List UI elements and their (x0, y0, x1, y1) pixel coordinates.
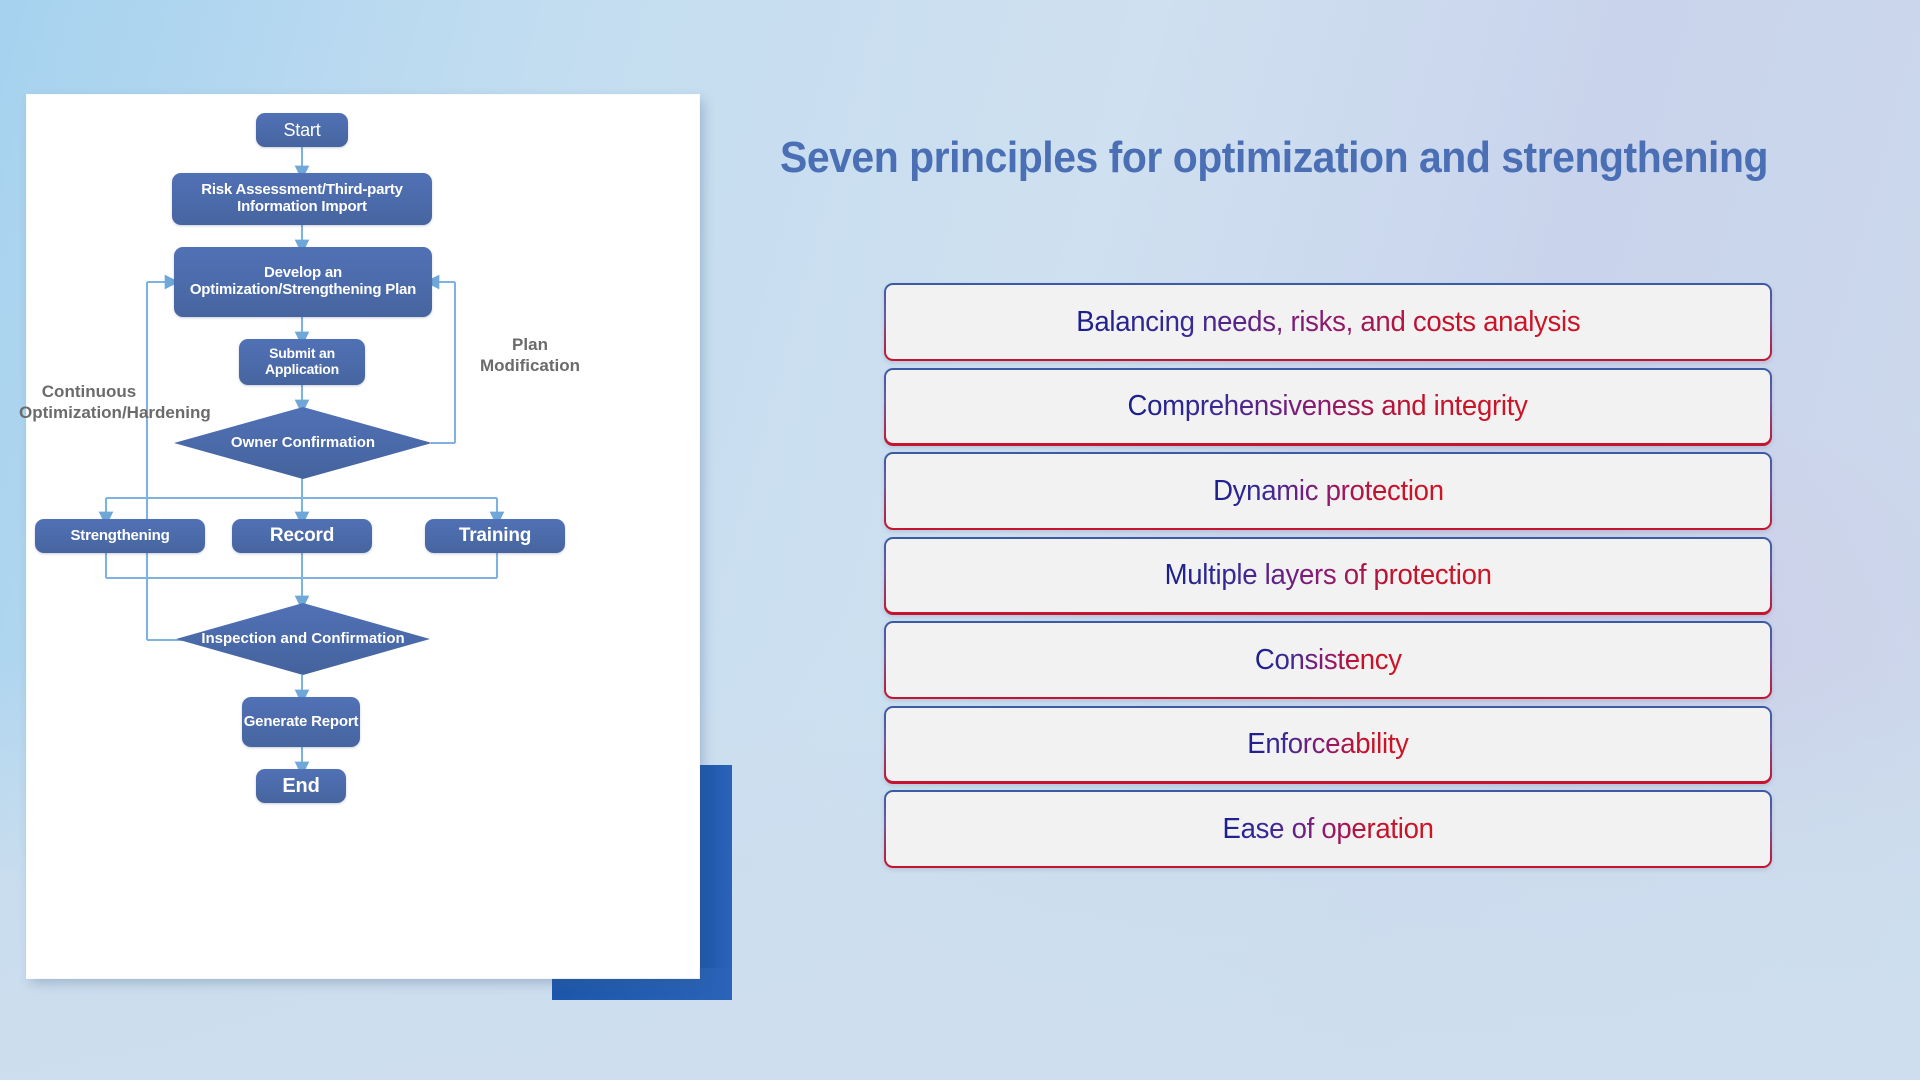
principle-item-6-inner: Enforceability (886, 708, 1770, 782)
principle-item-2-inner: Comprehensiveness and integrity (886, 370, 1770, 444)
flow-node-training-label: Training (459, 525, 531, 546)
flow-node-risk-assessment[interactable]: Risk Assessment/Third-party Information … (172, 173, 432, 225)
flow-node-start[interactable]: Start (256, 113, 348, 147)
principle-item-2[interactable]: Comprehensiveness and integrity (884, 368, 1772, 446)
principle-item-5[interactable]: Consistency (884, 621, 1772, 699)
flow-node-record[interactable]: Record (232, 519, 372, 553)
flow-node-training[interactable]: Training (425, 519, 565, 553)
principle-item-3[interactable]: Dynamic protection (884, 452, 1772, 530)
principle-item-7-label: Ease of operation (1222, 813, 1433, 846)
principle-item-3-inner: Dynamic protection (886, 454, 1770, 528)
principle-item-4[interactable]: Multiple layers of protection (884, 537, 1772, 615)
principle-item-5-label: Consistency (1255, 644, 1402, 677)
principle-item-1-label: Balancing needs, risks, and costs analys… (1076, 306, 1580, 339)
flowchart-card: Start Risk Assessment/Third-party Inform… (27, 95, 699, 978)
principles-list: Balancing needs, risks, and costs analys… (884, 283, 1772, 875)
edge-label-continuous-optimization: Continuous Optimization/Hardening (19, 382, 159, 423)
accent-bar-vertical (700, 765, 732, 1000)
flow-node-record-label: Record (270, 525, 334, 546)
flow-node-start-label: Start (283, 120, 320, 140)
flow-node-end[interactable]: End (256, 769, 346, 803)
flow-node-owner-confirmation-label: Owner Confirmation (174, 407, 432, 479)
principle-item-6[interactable]: Enforceability (884, 706, 1772, 784)
principle-item-2-label: Comprehensiveness and integrity (1128, 390, 1528, 423)
principle-item-7[interactable]: Ease of operation (884, 790, 1772, 868)
flow-node-submit-application[interactable]: Submit an Application (239, 339, 365, 385)
flow-node-develop-plan[interactable]: Develop an Optimization/Strengthening Pl… (174, 247, 432, 317)
flow-node-end-label: End (282, 775, 319, 797)
flow-node-develop-plan-label: Develop an Optimization/Strengthening Pl… (182, 265, 424, 299)
flow-node-strengthening-label: Strengthening (70, 528, 169, 545)
principle-item-4-inner: Multiple layers of protection (886, 539, 1770, 613)
principle-item-7-inner: Ease of operation (886, 792, 1770, 866)
flow-node-generate-report[interactable]: Generate Report (242, 697, 360, 747)
principle-item-1[interactable]: Balancing needs, risks, and costs analys… (884, 283, 1772, 361)
principle-item-5-inner: Consistency (886, 623, 1770, 697)
principle-item-1-inner: Balancing needs, risks, and costs analys… (886, 285, 1770, 359)
flow-node-strengthening[interactable]: Strengthening (35, 519, 205, 553)
edge-label-plan-modification-text: Plan Modification (480, 335, 580, 375)
flow-node-inspection-confirmation[interactable]: Inspection and Confirmation (176, 603, 430, 675)
principle-item-3-label: Dynamic protection (1213, 475, 1444, 508)
page-title: Seven principles for optimization and st… (780, 133, 1803, 183)
flow-node-risk-assessment-label: Risk Assessment/Third-party Information … (180, 182, 424, 216)
flow-node-owner-confirmation[interactable]: Owner Confirmation (174, 407, 432, 479)
slide-canvas: Start Risk Assessment/Third-party Inform… (0, 0, 1920, 1080)
flow-node-inspection-confirmation-label: Inspection and Confirmation (176, 603, 430, 675)
principle-item-6-label: Enforceability (1247, 728, 1408, 761)
edge-label-plan-modification: Plan Modification (465, 335, 595, 376)
principle-item-4-label: Multiple layers of protection (1164, 559, 1491, 592)
flow-node-generate-report-label: Generate Report (244, 714, 359, 731)
flow-node-submit-application-label: Submit an Application (239, 346, 365, 377)
